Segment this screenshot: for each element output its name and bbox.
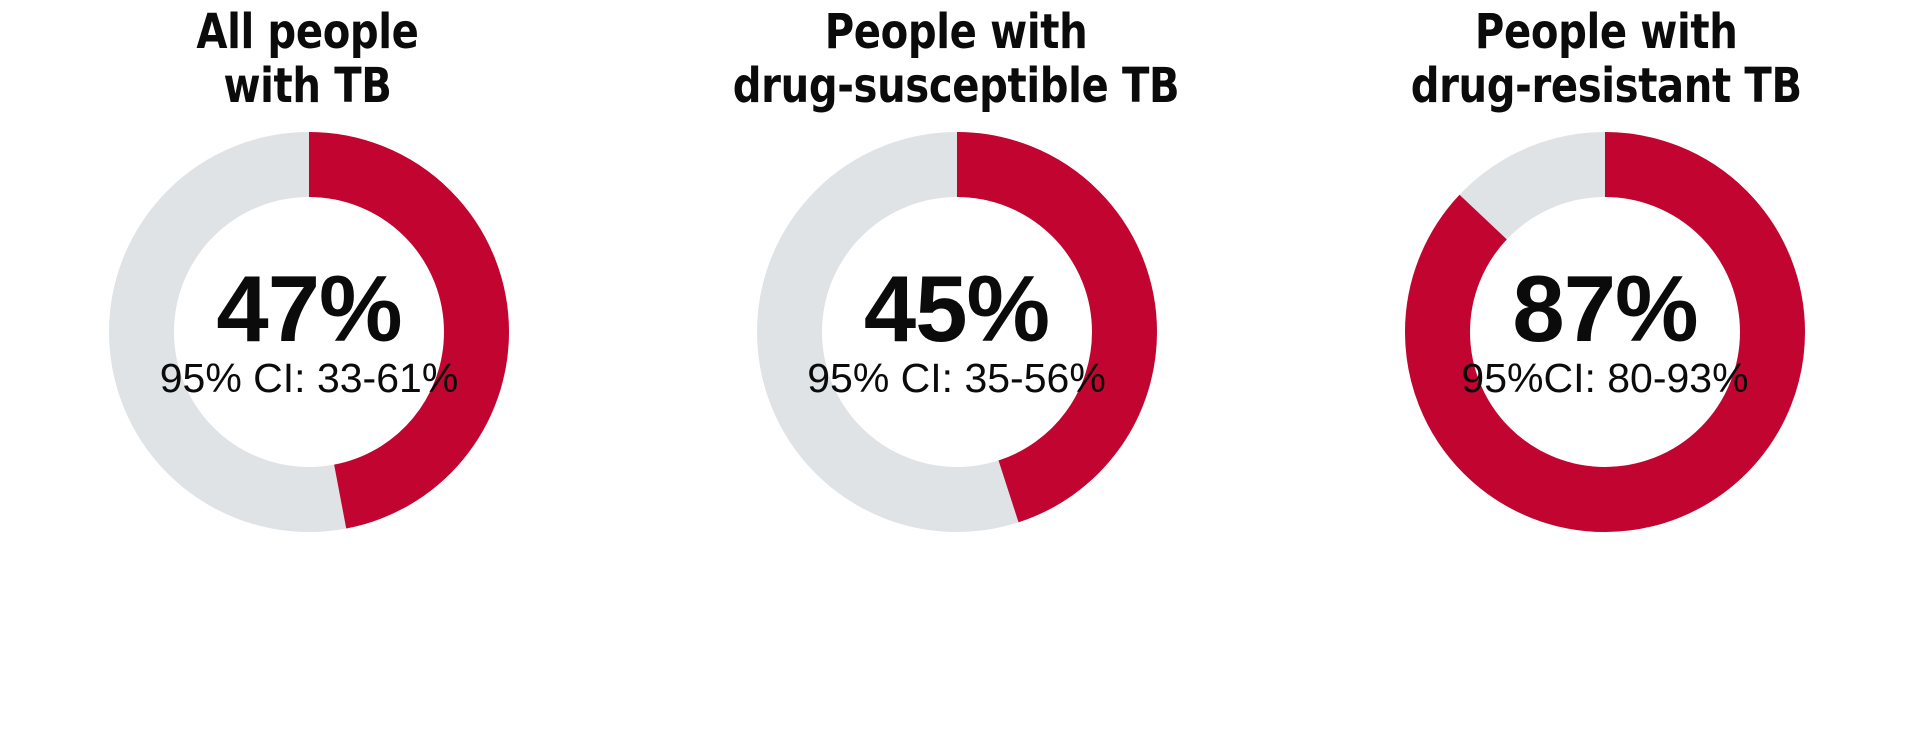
panel-title: People with drug-resistant TB <box>1411 6 1802 114</box>
donut-panel-drug-resistant-tb: People with drug-resistant TB 87% 95%CI:… <box>1299 0 1913 739</box>
donut-chart: 47% 95% CI: 33-61% <box>105 128 513 536</box>
donut-panel-group: All people with TB 47% 95% CI: 33-61% Pe… <box>0 0 1913 739</box>
donut-svg <box>1401 128 1809 536</box>
donut-svg <box>753 128 1161 536</box>
panel-title: People with drug-susceptible TB <box>733 6 1179 114</box>
donut-svg <box>105 128 513 536</box>
donut-panel-drug-susceptible-tb: People with drug-susceptible TB 45% 95% … <box>650 0 1264 739</box>
donut-chart: 45% 95% CI: 35-56% <box>753 128 1161 536</box>
donut-chart: 87% 95%CI: 80-93% <box>1401 128 1809 536</box>
panel-title: All people with TB <box>196 6 418 114</box>
donut-panel-all-people-with-tb: All people with TB 47% 95% CI: 33-61% <box>0 0 614 739</box>
figure-canvas: All people with TB 47% 95% CI: 33-61% Pe… <box>0 0 1913 739</box>
